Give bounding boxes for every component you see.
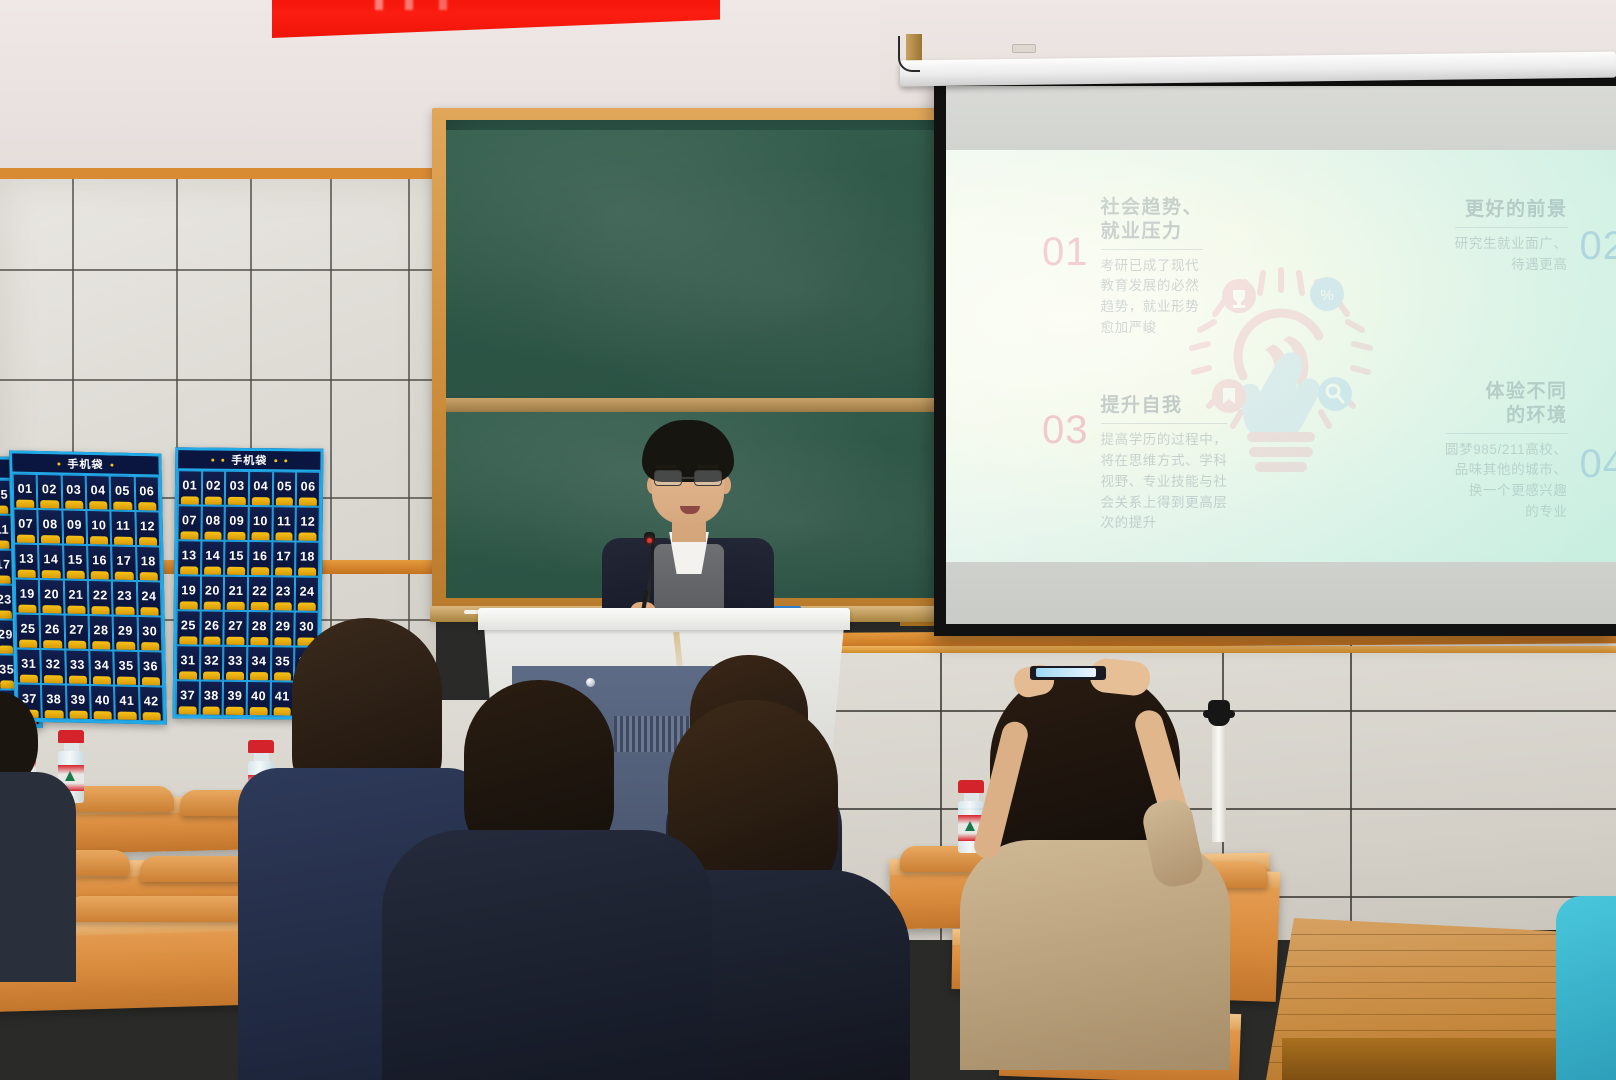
phone-pocket-number: 30 bbox=[142, 624, 157, 638]
phone-pocket[interactable]: 17 bbox=[111, 546, 136, 582]
phone-pocket-number: 37 bbox=[180, 688, 195, 702]
phone-pocket-number: 21 bbox=[229, 584, 244, 598]
phone-pocket[interactable]: 41 bbox=[114, 685, 139, 721]
phone-pocket-number: 28 bbox=[93, 623, 108, 637]
wall-grout-line bbox=[1350, 640, 1352, 940]
phone-pocket[interactable]: 16 bbox=[248, 541, 272, 576]
phone-pocket-number: 23 bbox=[117, 589, 132, 603]
phone-pocket-number: 17 bbox=[116, 554, 131, 568]
phone-pocket-number: 38 bbox=[204, 689, 219, 703]
projection-screen[interactable]: 01 社会趋势、 就业压力 考研已成了现代 教育发展的必然 趋势，就业形势 愈加… bbox=[934, 76, 1616, 636]
phone-pocket-number: 04 bbox=[91, 483, 106, 497]
phone-pocket[interactable]: 24 bbox=[137, 581, 162, 617]
phone-pocket-number: 18 bbox=[141, 554, 156, 568]
phone-pocket[interactable]: 12 bbox=[296, 506, 320, 541]
phone-pocket[interactable]: 38 bbox=[41, 684, 66, 720]
phone-pocket[interactable]: 15 bbox=[63, 544, 88, 580]
phone-pocket-number: 41 bbox=[119, 694, 134, 708]
phone-pocket[interactable]: 27 bbox=[224, 611, 248, 646]
phone-pocket[interactable]: 03 bbox=[225, 471, 249, 506]
phone-pocket[interactable]: 35 bbox=[114, 650, 139, 686]
phone-pocket-number: 09 bbox=[67, 518, 82, 532]
phone-pocket-number: 36 bbox=[143, 659, 158, 673]
phone-pocket-number: 39 bbox=[227, 689, 242, 703]
eyeglasses-icon bbox=[652, 470, 726, 487]
torso bbox=[382, 830, 712, 1080]
phone-pocket-number: 31 bbox=[180, 653, 195, 667]
phone-pocket-number: 10 bbox=[91, 518, 106, 532]
phone-pocket-number: 31 bbox=[21, 657, 36, 671]
phone-pocket[interactable]: 11 bbox=[272, 506, 296, 541]
phone-pocket-number: 39 bbox=[71, 693, 86, 707]
phone-pocket-number: 30 bbox=[299, 620, 314, 634]
phone-pocket-number: 35 bbox=[0, 662, 14, 676]
phone-pocket-number: 15 bbox=[229, 549, 244, 563]
phone-pocket-number: 06 bbox=[301, 480, 316, 494]
pouch-title: 手机袋 bbox=[231, 452, 267, 468]
bookmark-badge bbox=[1212, 379, 1246, 413]
phone-pocket[interactable]: 22 bbox=[248, 576, 272, 611]
quadrant-text: 圆梦985/211高校、 品味其他的城市、 换一个更感兴趣 的专业 bbox=[1445, 440, 1568, 524]
phone-pocket-number: 11 bbox=[0, 522, 9, 536]
phone-pocket-number: 12 bbox=[140, 519, 155, 533]
phone-pocket[interactable]: 20 bbox=[39, 579, 64, 615]
phone-pocket-number: 13 bbox=[182, 548, 197, 562]
quadrant-rule bbox=[1445, 433, 1568, 434]
phone-pocket-number: 26 bbox=[45, 622, 60, 636]
phone-pocket[interactable]: 37 bbox=[176, 680, 200, 715]
percent-badge: % bbox=[1310, 277, 1344, 311]
phone-pocket-number: 25 bbox=[181, 618, 196, 632]
phone-pocket[interactable]: 04 bbox=[249, 471, 273, 506]
phone-pocket-number: 19 bbox=[181, 583, 196, 597]
phone-pocket[interactable]: 19 bbox=[177, 575, 201, 610]
phone-pocket-number: 09 bbox=[229, 514, 244, 528]
wall-grout-line bbox=[0, 379, 436, 381]
phone-pocket[interactable]: 23 bbox=[112, 581, 137, 617]
phone-pocket[interactable]: 15 bbox=[224, 541, 248, 576]
phone-pocket[interactable]: 25 bbox=[176, 610, 200, 645]
phone-pocket[interactable]: 04 bbox=[86, 475, 111, 511]
lightbulb-hand-icon: % bbox=[1181, 244, 1381, 484]
phone-pocket-number: 42 bbox=[144, 694, 159, 708]
phone-pocket[interactable]: 39 bbox=[223, 681, 247, 716]
phone-pocket[interactable]: 35 bbox=[271, 646, 295, 681]
search-badge bbox=[1318, 377, 1352, 411]
phone-pocket-number: 19 bbox=[20, 587, 35, 601]
phone-pocket-number: 08 bbox=[206, 514, 221, 528]
wall-trim-right-lower bbox=[830, 646, 1616, 653]
classroom-scene: 01 社会趋势、 就业压力 考研已成了现代 教育发展的必然 趋势，就业形势 愈加… bbox=[0, 0, 1616, 1080]
phone-pocket-number: 05 bbox=[277, 479, 292, 493]
phone-pocket[interactable]: 29 bbox=[271, 611, 295, 646]
phone-pocket-number: 26 bbox=[205, 619, 220, 633]
phone-pocket-number: 16 bbox=[92, 553, 107, 567]
phone-pocket[interactable]: 42 bbox=[139, 686, 164, 722]
phone-pocket-number: 34 bbox=[94, 658, 109, 672]
quadrant-number: 04 bbox=[1580, 444, 1616, 523]
phone-pocket[interactable]: 23 bbox=[271, 576, 295, 611]
phone-pocket-number: 33 bbox=[70, 658, 85, 672]
wall-pipe bbox=[1212, 722, 1226, 842]
phone-pocket[interactable]: 34 bbox=[89, 650, 114, 686]
svg-text:%: % bbox=[1320, 287, 1333, 304]
phone-pocket[interactable]: 26 bbox=[200, 611, 224, 646]
phone-pocket-number: 20 bbox=[205, 584, 220, 598]
phone-pocket-number: 08 bbox=[43, 517, 58, 531]
slide-quadrant-04: 04 体验不同 的环境 圆梦985/211高校、 品味其他的城市、 换一个更感兴… bbox=[1376, 380, 1616, 523]
phone-pocket-number: 02 bbox=[42, 482, 57, 496]
phone-pocket-number: 35 bbox=[119, 659, 134, 673]
phone-pocket[interactable]: 31 bbox=[176, 645, 200, 680]
phone-pocket-number: 29 bbox=[0, 627, 13, 641]
phone-pocket[interactable]: 05 bbox=[272, 471, 296, 506]
phone-pocket-number: 12 bbox=[300, 515, 315, 529]
phone-pocket-number: 27 bbox=[69, 623, 84, 637]
phone-pocket-number: 23 bbox=[276, 584, 291, 598]
letterbox-bottom bbox=[946, 562, 1616, 624]
phone-pocket[interactable]: 06 bbox=[134, 476, 159, 512]
quadrant-number: 02 bbox=[1580, 226, 1616, 276]
phone-pocket-number: 33 bbox=[228, 654, 243, 668]
phone-pocket-number: 18 bbox=[300, 550, 315, 564]
phone-pocket-number: 27 bbox=[228, 619, 243, 633]
phone-pocket-number: 14 bbox=[43, 552, 58, 566]
phone-pocket-number: 21 bbox=[68, 588, 83, 602]
phone-pocket[interactable]: 09 bbox=[62, 510, 87, 546]
phone-pocket-number: 14 bbox=[205, 549, 220, 563]
phone-pocket-number: 02 bbox=[206, 479, 221, 493]
phone-pocket[interactable]: 31 bbox=[16, 648, 41, 684]
phone-pocket[interactable]: 12 bbox=[135, 511, 160, 547]
phone-pocket-number: 41 bbox=[275, 689, 290, 703]
phone-pocket[interactable]: 24 bbox=[295, 576, 319, 611]
phone-pocket[interactable]: 26 bbox=[40, 614, 65, 650]
phone-pocket-number: 34 bbox=[251, 654, 266, 668]
phone-pocket[interactable]: 05 bbox=[110, 476, 135, 512]
phone-pocket-number: 40 bbox=[251, 689, 266, 703]
quadrant-number: 03 bbox=[1042, 410, 1089, 450]
phone-pocket-number: 32 bbox=[204, 654, 219, 668]
phone-pocket-number: 29 bbox=[276, 619, 291, 633]
phone-pocket[interactable]: 08 bbox=[201, 506, 225, 541]
phone-pocket-number: 11 bbox=[277, 514, 291, 528]
phone-pocket[interactable]: 21 bbox=[224, 576, 248, 611]
phone-pocket[interactable]: 36 bbox=[138, 651, 163, 687]
phone-pocket-number: 22 bbox=[252, 584, 267, 598]
phone-pocket-number: 10 bbox=[253, 514, 268, 528]
phone-pocket[interactable]: 09 bbox=[225, 506, 249, 541]
phone-pocket-number: 05 bbox=[115, 484, 130, 498]
phone-pocket[interactable]: 01 bbox=[13, 473, 38, 509]
phone-pocket[interactable]: 38 bbox=[199, 680, 223, 715]
phone-pocket-number: 29 bbox=[118, 624, 133, 638]
phone-pocket[interactable]: 18 bbox=[136, 546, 161, 582]
phone-pocket-number: 07 bbox=[18, 517, 33, 531]
phone-pocket[interactable]: 41 bbox=[270, 681, 294, 716]
phone-pocket[interactable]: 40 bbox=[90, 685, 115, 721]
microphone-led-indicator bbox=[647, 538, 652, 543]
eyebrow-right bbox=[697, 465, 719, 468]
phone-pocket[interactable]: 28 bbox=[89, 615, 114, 651]
wall-grout-line bbox=[0, 269, 436, 271]
phone-pocket[interactable]: 11 bbox=[111, 511, 136, 547]
screen-cable bbox=[898, 36, 920, 72]
chalkboard-upper-panel bbox=[446, 130, 942, 398]
phone-pocket[interactable]: 22 bbox=[88, 580, 113, 616]
phone-pocket-number: 20 bbox=[44, 587, 59, 601]
phone-pocket-number: 04 bbox=[253, 479, 268, 493]
phone-pocket[interactable]: 14 bbox=[38, 544, 63, 580]
phone-screen bbox=[1036, 668, 1096, 677]
torso bbox=[0, 772, 76, 982]
phone-pocket[interactable]: 20 bbox=[200, 576, 224, 611]
phone-pocket[interactable]: 25 bbox=[16, 613, 41, 649]
phone-pocket-number: 17 bbox=[276, 549, 291, 563]
lectern-screw bbox=[586, 678, 595, 687]
phone-pocket-number: 03 bbox=[66, 483, 81, 497]
phone-pocket-number: 23 bbox=[0, 592, 12, 606]
phone-pocket-number: 25 bbox=[20, 622, 35, 636]
pouch-grid: 0102030405060708091011121314151617181920… bbox=[13, 473, 164, 721]
phone-pocket[interactable]: 32 bbox=[41, 649, 66, 685]
bench-front-left-2 bbox=[66, 896, 252, 922]
phone-pocket[interactable]: 39 bbox=[66, 684, 91, 720]
phone-pocket-number: 22 bbox=[93, 588, 108, 602]
phone-pocket[interactable]: 17 bbox=[272, 541, 296, 576]
phone-pocket[interactable]: 10 bbox=[248, 506, 272, 541]
wall-mounted-fixture bbox=[1208, 700, 1230, 726]
letterbox-top bbox=[946, 86, 1616, 150]
phone-pocket-number: 17 bbox=[0, 557, 11, 571]
phone-pocket-organizer-middle: 手机袋 010203040506070809101112131415161718… bbox=[9, 450, 167, 724]
phone-pocket[interactable]: 10 bbox=[86, 510, 111, 546]
phone-pocket[interactable]: 28 bbox=[247, 611, 271, 646]
lectern-top-surface bbox=[478, 608, 850, 630]
slide-quadrant-02: 02 更好的前景 研究生就业面广、 待遇更高 bbox=[1376, 198, 1616, 276]
phone-pocket[interactable]: 40 bbox=[247, 681, 271, 716]
quadrant-text: 研究生就业面广、 待遇更高 bbox=[1455, 234, 1568, 276]
phone-pocket-number: 35 bbox=[275, 654, 290, 668]
phone-pocket-number: 24 bbox=[141, 589, 156, 603]
phone-pocket-number: 32 bbox=[45, 657, 60, 671]
phone-pocket-number: 06 bbox=[139, 484, 154, 498]
phone-pocket-number: 07 bbox=[182, 513, 197, 527]
phone-pocket[interactable]: 16 bbox=[87, 545, 112, 581]
phone-pocket[interactable]: 06 bbox=[296, 472, 320, 507]
pouch-header: 手机袋 bbox=[178, 450, 320, 471]
quadrant-title: 体验不同 的环境 bbox=[1485, 380, 1567, 428]
phone-pocket[interactable]: 13 bbox=[14, 543, 39, 579]
quadrant-rule bbox=[1455, 227, 1568, 228]
quadrant-number: 01 bbox=[1042, 232, 1089, 272]
phone-pocket-number: 01 bbox=[17, 482, 32, 496]
trophy-badge bbox=[1222, 279, 1256, 313]
phone-pocket-number: 16 bbox=[253, 549, 268, 563]
phone-pocket-number: 13 bbox=[19, 552, 34, 566]
phone-pocket[interactable]: 29 bbox=[113, 616, 138, 652]
phone-pocket[interactable]: 33 bbox=[65, 649, 90, 685]
eyebrow-left bbox=[655, 465, 677, 468]
phone-pocket[interactable]: 30 bbox=[137, 616, 162, 652]
phone-pocket[interactable]: 14 bbox=[201, 541, 225, 576]
phone-pocket[interactable]: 01 bbox=[178, 470, 202, 505]
slide-content: 01 社会趋势、 就业压力 考研已成了现代 教育发展的必然 趋势，就业形势 愈加… bbox=[946, 150, 1616, 562]
chalkboard-divider-rail bbox=[446, 398, 942, 412]
quadrant-title: 更好的前景 bbox=[1465, 198, 1568, 222]
phone-pocket[interactable]: 08 bbox=[38, 509, 63, 545]
phone-pocket-number: 05 bbox=[0, 487, 8, 501]
phone-pocket[interactable]: 02 bbox=[37, 474, 62, 510]
phone-pocket-number: 40 bbox=[95, 693, 110, 707]
phone-pocket-number: 01 bbox=[182, 478, 197, 492]
phone-pocket[interactable]: 02 bbox=[201, 471, 225, 506]
phone-pocket[interactable]: 32 bbox=[200, 646, 224, 681]
phone-pocket[interactable]: 33 bbox=[223, 646, 247, 681]
teal-garment bbox=[1556, 896, 1616, 1080]
phone-pocket-number: 24 bbox=[300, 585, 315, 599]
presenter bbox=[596, 420, 776, 620]
phone-pocket-number: 28 bbox=[252, 619, 267, 633]
phone-pocket[interactable]: 19 bbox=[15, 578, 40, 614]
phone-pocket[interactable]: 13 bbox=[177, 540, 201, 575]
phone-pocket-number: 15 bbox=[68, 553, 83, 567]
phone-pocket-number: 11 bbox=[116, 519, 131, 533]
pouch-title: 手机袋 bbox=[67, 456, 103, 473]
wall-hook bbox=[1012, 44, 1036, 53]
phone-pocket[interactable]: 18 bbox=[295, 541, 319, 576]
phone-pocket[interactable]: 07 bbox=[13, 508, 38, 544]
quadrant-title: 社会趋势、 就业压力 bbox=[1101, 196, 1204, 244]
screen-surface: 01 社会趋势、 就业压力 考研已成了现代 教育发展的必然 趋势，就业形势 愈加… bbox=[946, 86, 1616, 624]
phone-pocket[interactable]: 34 bbox=[247, 646, 271, 681]
phone-pocket-number: 38 bbox=[46, 692, 61, 706]
phone-pocket[interactable]: 07 bbox=[177, 505, 201, 540]
phone-pocket[interactable]: 21 bbox=[63, 579, 88, 615]
phone-pocket-number: 03 bbox=[230, 479, 245, 493]
phone-pocket[interactable]: 03 bbox=[61, 475, 86, 511]
phone-pocket[interactable]: 27 bbox=[64, 614, 89, 650]
